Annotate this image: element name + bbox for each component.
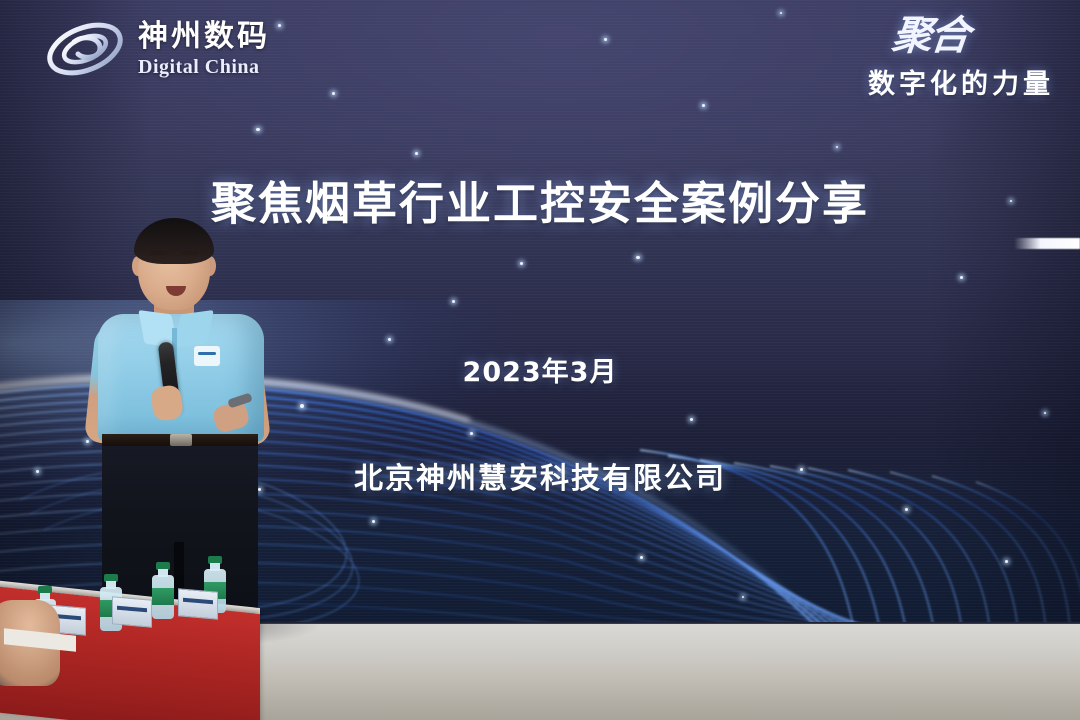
name-card (112, 596, 152, 627)
speaker-eyebrow-left (150, 251, 167, 255)
speaker-eye-right (182, 258, 196, 262)
digital-china-logo: 神州数码 Digital China (44, 18, 270, 80)
light-streak (1014, 238, 1080, 249)
speaker-hand-holding-mic (150, 384, 184, 422)
speaker-hair (134, 218, 214, 264)
name-card (178, 588, 218, 619)
brand-name-cn: 神州数码 (138, 22, 270, 52)
speaker-chest-logo-icon (194, 346, 220, 366)
event-brand-logo: 聚合 数字化的力量 (868, 16, 1054, 101)
conference-stage-photo: 神州数码 Digital China 聚合 数字化的力量 聚焦烟草行业工控安全案… (0, 0, 1080, 720)
speaker-eye-left (152, 258, 166, 262)
brand-name-en: Digital China (138, 57, 270, 77)
event-tagline: 数字化的力量 (868, 62, 1054, 101)
speaker-eyebrow-right (181, 251, 198, 255)
speaker-belt-buckle (170, 434, 192, 446)
digital-china-swirl-icon (44, 18, 126, 80)
event-calligraphy: 聚合 (866, 16, 970, 56)
